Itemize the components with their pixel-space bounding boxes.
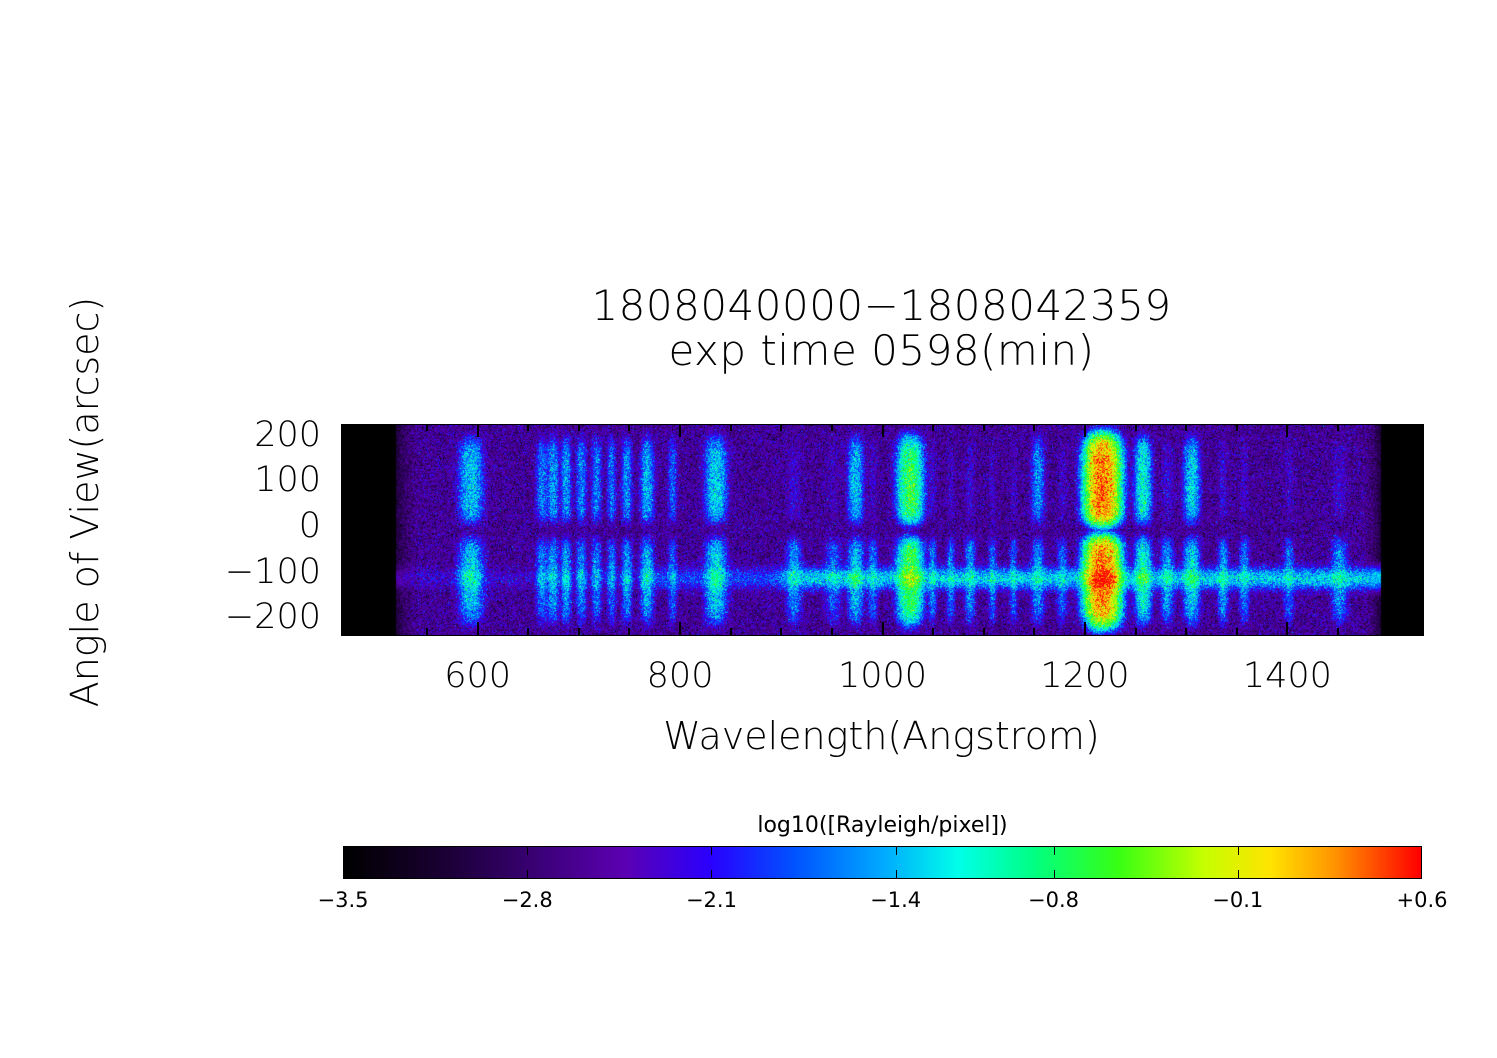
x-tick-major-top: [1286, 424, 1288, 437]
chart-title: 1808040000−1808042359 exp time 0598(min): [341, 283, 1422, 374]
x-tick-minor-top: [1185, 424, 1187, 431]
y-tick-label: 0: [121, 506, 321, 546]
y-tick-major: [341, 528, 354, 530]
y-tick-major: [341, 482, 354, 484]
colorbar-tick-bottom: [1054, 870, 1055, 879]
x-tick-minor: [426, 628, 428, 635]
x-tick-major-top: [679, 424, 681, 437]
colorbar-tick: [1238, 846, 1239, 855]
x-tick-major-top: [477, 424, 479, 437]
y-tick-label: 100: [121, 460, 321, 500]
x-tick-minor: [1236, 628, 1238, 635]
x-tick-minor: [1033, 628, 1035, 635]
x-tick-minor: [780, 628, 782, 635]
colorbar-tick-bottom: [527, 870, 528, 879]
colorbar-title: log10([Rayleigh/pixel]): [343, 813, 1422, 838]
x-tick-minor-top: [375, 424, 377, 431]
x-tick-minor: [1388, 628, 1390, 635]
colorbar-tick-label: −1.4: [816, 888, 976, 912]
x-tick-minor-top: [831, 424, 833, 431]
title-line-observation-id: 1808040000−1808042359: [341, 283, 1422, 328]
x-tick-label: 800: [570, 656, 790, 696]
x-tick-major: [1286, 622, 1288, 635]
x-tick-major: [1084, 622, 1086, 635]
colorbar-tick-label: −2.1: [631, 888, 791, 912]
colorbar-tick: [896, 846, 897, 855]
colorbar-tick: [527, 846, 528, 855]
x-tick-label: 1200: [975, 656, 1195, 696]
colorbar-tick-bottom: [896, 870, 897, 879]
x-tick-minor-top: [780, 424, 782, 431]
y-tick-major: [341, 619, 354, 621]
colorbar: [343, 846, 1422, 879]
x-tick-minor-top: [1135, 424, 1137, 431]
y-tick-label: −100: [121, 552, 321, 592]
y-tick-major: [341, 437, 354, 439]
x-tick-minor: [983, 628, 985, 635]
x-tick-minor: [831, 628, 833, 635]
y-tick-major-right: [1410, 482, 1423, 484]
x-tick-major-top: [882, 424, 884, 437]
colorbar-tick-label: −2.8: [447, 888, 607, 912]
x-tick-minor-top: [730, 424, 732, 431]
colorbar-tick-bottom: [711, 870, 712, 879]
x-tick-label: 1000: [773, 656, 993, 696]
y-tick-major-right: [1410, 619, 1423, 621]
x-axis-title: Wavelength(Angstrom): [341, 714, 1422, 758]
x-tick-minor-top: [983, 424, 985, 431]
y-tick-major-right: [1410, 437, 1423, 439]
x-tick-minor-top: [527, 424, 529, 431]
x-tick-minor: [932, 628, 934, 635]
x-tick-minor-top: [932, 424, 934, 431]
y-tick-major: [341, 574, 354, 576]
colorbar-tick-label: −0.1: [1158, 888, 1318, 912]
colorbar-tick-label: +0.6: [1342, 888, 1497, 912]
x-tick-label: 1400: [1177, 656, 1397, 696]
x-tick-minor-top: [426, 424, 428, 431]
x-tick-minor: [1135, 628, 1137, 635]
x-tick-minor-top: [1388, 424, 1390, 431]
colorbar-tick-label: −0.8: [974, 888, 1134, 912]
x-tick-minor: [628, 628, 630, 635]
colorbar-tick: [1054, 846, 1055, 855]
y-tick-label: 200: [121, 415, 321, 455]
x-tick-minor: [375, 628, 377, 635]
x-tick-major: [679, 622, 681, 635]
x-tick-minor: [1185, 628, 1187, 635]
x-tick-minor-top: [1337, 424, 1339, 431]
x-tick-label: 600: [368, 656, 588, 696]
title-line-exposure-time: exp time 0598(min): [341, 328, 1422, 373]
colorbar-gradient: [344, 847, 1421, 878]
spectrogram-plot-area: [341, 424, 1424, 636]
x-tick-minor-top: [1033, 424, 1035, 431]
colorbar-tick-bottom: [1238, 870, 1239, 879]
y-tick-label: −200: [121, 597, 321, 637]
x-tick-minor: [527, 628, 529, 635]
y-tick-major-right: [1410, 574, 1423, 576]
x-tick-major-top: [1084, 424, 1086, 437]
x-tick-minor: [578, 628, 580, 635]
colorbar-tick-label: −3.5: [263, 888, 423, 912]
y-tick-major-right: [1410, 528, 1423, 530]
x-tick-minor: [1337, 628, 1339, 635]
x-tick-major: [882, 622, 884, 635]
colorbar-tick: [711, 846, 712, 855]
x-tick-minor-top: [1236, 424, 1238, 431]
y-axis-title: Angle of View(arcsec): [63, 242, 107, 762]
x-tick-major: [477, 622, 479, 635]
x-tick-minor-top: [578, 424, 580, 431]
x-tick-minor: [730, 628, 732, 635]
x-tick-minor-top: [628, 424, 630, 431]
spectrogram-heatmap: [342, 425, 1423, 635]
